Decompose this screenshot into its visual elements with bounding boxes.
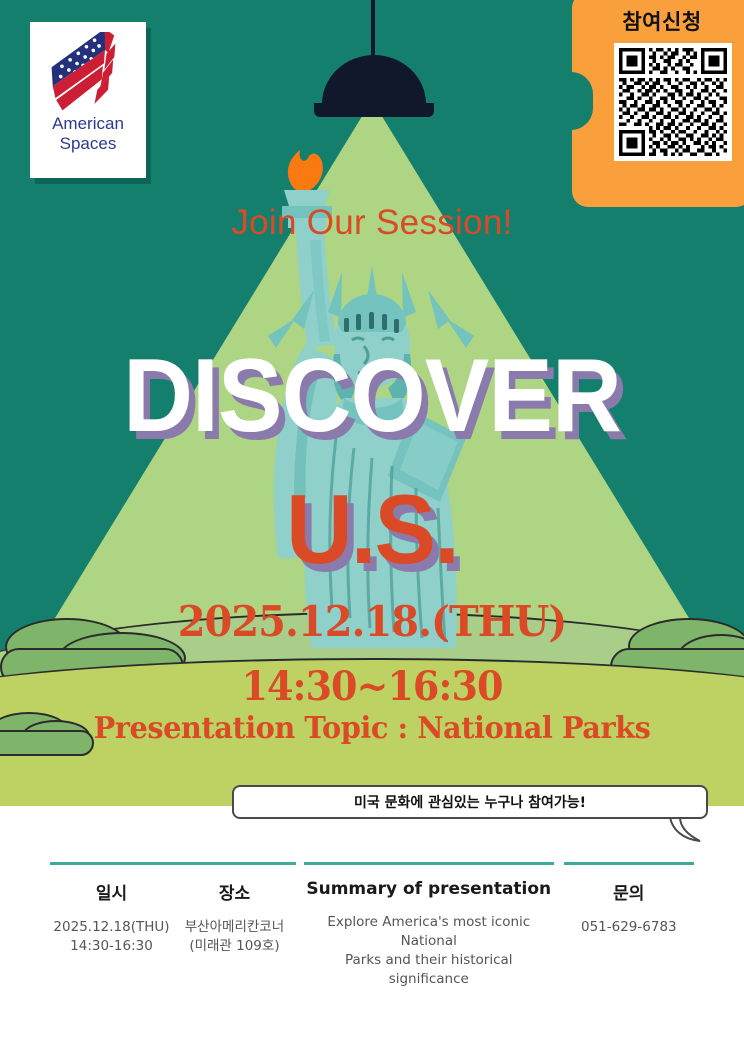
detail-line-1: 2025.12.18(THU) xyxy=(50,918,173,937)
detail-body: 2025.12.18(THU) 14:30-16:30 xyxy=(50,918,173,956)
detail-line-1: 부산아메리칸코너 xyxy=(173,918,296,937)
page-subtitle: U.S. xyxy=(22,480,721,578)
logo-line-2: Spaces xyxy=(52,134,124,154)
contact-phone[interactable]: 051-629-6783 xyxy=(564,918,694,937)
detail-column-summary: Summary of presentation Explore America'… xyxy=(304,879,554,989)
registration-tag[interactable]: 참여신청 xyxy=(572,0,744,207)
detail-line-1: Explore America's most iconic National xyxy=(304,913,554,951)
detail-line-2: 14:30-16:30 xyxy=(50,937,173,956)
speech-bubble-tail-icon xyxy=(668,817,704,843)
event-details: 일시 2025.12.18(THU) 14:30-16:30 장소 부산아메리칸… xyxy=(0,862,744,982)
american-spaces-logo: American Spaces xyxy=(30,22,146,178)
detail-body: Explore America's most iconic National P… xyxy=(304,913,554,989)
event-date: 2025.12.18.(THU) xyxy=(19,598,726,646)
detail-heading: 문의 xyxy=(564,879,694,904)
logo-line-1: American xyxy=(52,114,124,134)
join-tagline: Join Our Session! xyxy=(0,203,744,243)
detail-column-venue: 장소 부산아메리칸코너 (미래관 109호) xyxy=(173,879,296,989)
registration-title: 참여신청 xyxy=(572,6,744,36)
details-rule-1 xyxy=(50,862,296,865)
detail-heading: 일시 xyxy=(50,879,173,904)
us-flag-icon xyxy=(46,32,130,112)
detail-heading: 장소 xyxy=(173,879,296,904)
details-rule-2 xyxy=(304,862,554,865)
details-rule-3 xyxy=(564,862,694,865)
qr-code-icon[interactable] xyxy=(614,43,732,161)
detail-line-2: (미래관 109호) xyxy=(173,937,296,956)
page-title: DISCOVER xyxy=(26,344,718,448)
detail-line-2: Parks and their historical significance xyxy=(304,951,554,989)
pendant-lamp-icon xyxy=(322,55,426,117)
event-time: 14:30~16:30 xyxy=(19,665,726,709)
detail-column-date: 일시 2025.12.18(THU) 14:30-16:30 xyxy=(50,879,173,989)
details-columns: 일시 2025.12.18(THU) 14:30-16:30 장소 부산아메리칸… xyxy=(0,879,744,989)
detail-heading: Summary of presentation xyxy=(304,879,554,899)
event-poster: Join Our Session! DISCOVER U.S. 2025.12.… xyxy=(0,0,744,1052)
logo-wordmark: American Spaces xyxy=(52,114,124,154)
event-topic: Presentation Topic : National Parks xyxy=(15,712,729,746)
tag-notch xyxy=(571,72,593,130)
details-rules xyxy=(0,862,744,865)
eligibility-note: 미국 문화에 관심있는 누구나 참여가능! xyxy=(232,785,708,819)
detail-column-contact: 문의 051-629-6783 xyxy=(564,879,694,989)
detail-body: 051-629-6783 xyxy=(564,918,694,937)
detail-body: 부산아메리칸코너 (미래관 109호) xyxy=(173,918,296,956)
